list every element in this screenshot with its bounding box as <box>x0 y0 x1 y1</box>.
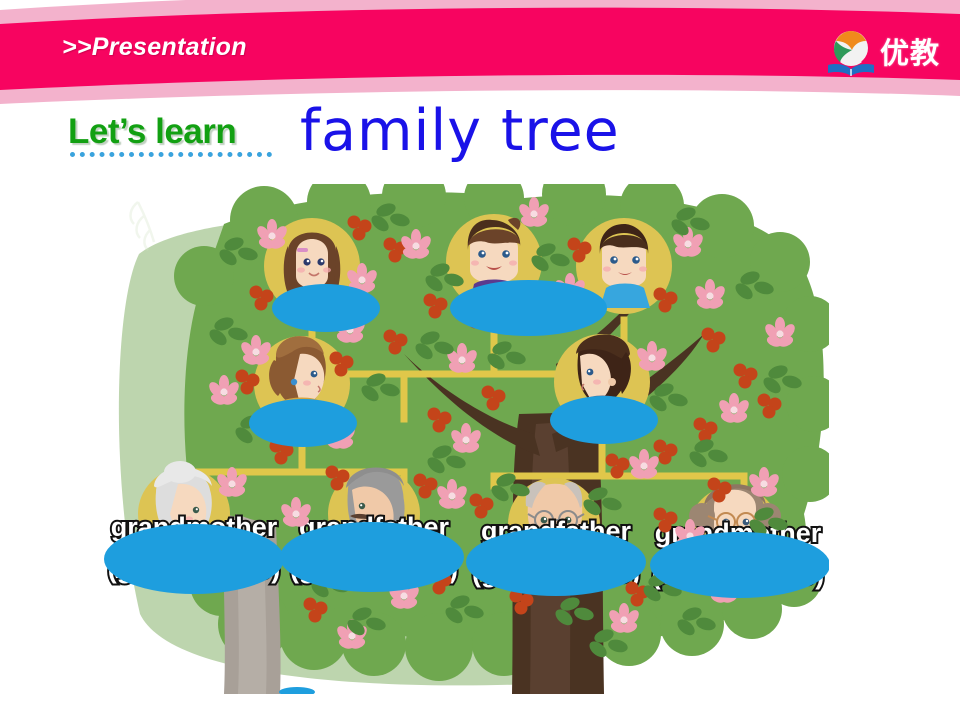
family-tree-illustration: grandmother grandfather grandfather gran… <box>104 184 829 694</box>
cover-ellipse-mother[interactable] <box>249 399 357 447</box>
header-banner: >>Presentation <box>0 0 960 108</box>
cover-ellipse-sister[interactable] <box>272 284 380 332</box>
cover-ellipse-bottom-edge[interactable] <box>279 687 315 694</box>
logo-swirl-book-icon <box>826 29 876 77</box>
cover-ellipse-me[interactable] <box>450 280 607 336</box>
portrait-boy-right <box>600 224 650 308</box>
lets-learn-heading: Let’s learn <box>68 112 236 152</box>
cover-ellipse-grandmother-2[interactable] <box>650 532 829 598</box>
family-tree-image: grandmother grandfather grandfather gran… <box>104 184 829 694</box>
page-title: >>Presentation <box>62 33 247 62</box>
logo-text: 优教 <box>880 32 940 74</box>
cover-ellipse-grandfather-1[interactable] <box>280 522 464 592</box>
cover-ellipse-grandfather-2[interactable] <box>466 528 646 596</box>
lets-learn-underline <box>70 152 272 162</box>
cover-ellipse-grandmother-1[interactable] <box>104 524 284 594</box>
cover-ellipse-father[interactable] <box>550 396 658 444</box>
topic-title: family tree <box>300 103 620 160</box>
slide-canvas: >>Presentation 优教 Let’s learn family tre… <box>0 0 960 720</box>
brand-logo: 优教 <box>826 29 950 77</box>
